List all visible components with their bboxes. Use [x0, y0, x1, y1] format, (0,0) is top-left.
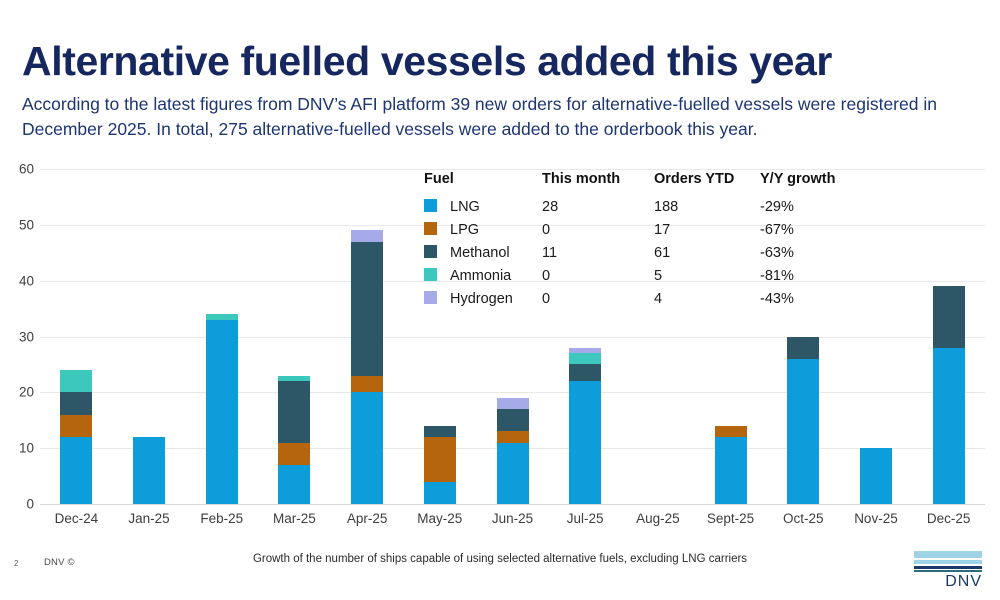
legend-fuel-cell: LNG: [424, 196, 542, 219]
bar-group[interactable]: [933, 286, 965, 504]
bar-segment-methanol[interactable]: [424, 426, 456, 437]
legend-fuel-cell: Methanol: [424, 242, 542, 265]
bar-segment-lpg[interactable]: [424, 437, 456, 482]
bar-segment-lng[interactable]: [60, 437, 92, 504]
legend-fuel-label: Methanol: [450, 245, 510, 261]
dnv-logo: DNV: [914, 551, 982, 591]
column-header-this-month: This month: [542, 171, 654, 196]
x-axis-baseline: [40, 504, 985, 505]
legend-yy-growth-cell: -81%: [760, 265, 850, 288]
chart-caption: Growth of the number of ships capable of…: [0, 553, 1000, 565]
bar-segment-lpg[interactable]: [278, 443, 310, 465]
x-axis-tick-label: Dec-25: [904, 511, 994, 526]
bar-group[interactable]: [787, 337, 819, 504]
bar-segment-lng[interactable]: [860, 448, 892, 504]
bar-group[interactable]: [206, 314, 238, 504]
bar-segment-hydrogen[interactable]: [351, 230, 383, 241]
table-body: LNG28188-29%LPG017-67%Methanol1161-63%Am…: [424, 196, 850, 311]
legend-fuel-label: LPG: [450, 222, 479, 238]
logo-wordmark: DNV: [914, 572, 982, 591]
bar-segment-lng[interactable]: [933, 348, 965, 504]
bar-group[interactable]: [860, 448, 892, 504]
legend-swatch-methanol-icon: [424, 245, 437, 258]
legend-swatch-lpg-icon: [424, 222, 437, 235]
legend-this-month-cell: 0: [542, 265, 654, 288]
page-subtitle: According to the latest figures from DNV…: [22, 92, 972, 142]
legend-orders-ytd-cell: 17: [654, 219, 760, 242]
page-title: Alternative fuelled vessels added this y…: [22, 40, 962, 83]
legend-fuel-label: Ammonia: [450, 268, 511, 284]
legend-this-month-cell: 0: [542, 219, 654, 242]
legend-fuel-cell: Ammonia: [424, 265, 542, 288]
y-axis-tick-label: 50: [2, 217, 34, 232]
legend-fuel-label: LNG: [450, 199, 480, 215]
y-axis-tick-label: 20: [2, 385, 34, 400]
y-axis-tick-label: 0: [2, 497, 34, 512]
bar-segment-lng[interactable]: [569, 381, 601, 504]
bar-segment-methanol[interactable]: [569, 364, 601, 381]
bar-group[interactable]: [569, 348, 601, 504]
legend-swatch-hydrogen-icon: [424, 291, 437, 304]
legend-row: Methanol1161-63%: [424, 242, 850, 265]
y-axis-tick-label: 40: [2, 273, 34, 288]
legend-orders-ytd-cell: 61: [654, 242, 760, 265]
bar-segment-lpg[interactable]: [497, 431, 529, 442]
bar-segment-hydrogen[interactable]: [497, 398, 529, 409]
legend-row: LNG28188-29%: [424, 196, 850, 219]
legend-this-month-cell: 11: [542, 242, 654, 265]
bar-segment-methanol[interactable]: [60, 392, 92, 414]
legend-yy-growth-cell: -63%: [760, 242, 850, 265]
footer-divider: [0, 583, 1000, 584]
legend-orders-ytd-cell: 5: [654, 265, 760, 288]
legend-yy-growth-cell: -43%: [760, 288, 850, 311]
bar-segment-lng[interactable]: [351, 392, 383, 504]
legend-fuel-label: Hydrogen: [450, 291, 513, 307]
bar-segment-lpg[interactable]: [60, 415, 92, 437]
bar-group[interactable]: [497, 398, 529, 504]
bar-group[interactable]: [60, 370, 92, 504]
legend-fuel-cell: Hydrogen: [424, 288, 542, 311]
bar-group[interactable]: [351, 230, 383, 504]
bar-segment-methanol[interactable]: [278, 381, 310, 442]
table-header-row: Fuel This month Orders YTD Y/Y growth: [424, 171, 850, 196]
bar-segment-lpg[interactable]: [715, 426, 747, 437]
bar-segment-lng[interactable]: [278, 465, 310, 504]
bar-segment-lng[interactable]: [206, 320, 238, 504]
bar-segment-lng[interactable]: [133, 437, 165, 504]
column-header-fuel: Fuel: [424, 171, 542, 196]
logo-bar-light-1: [914, 551, 982, 558]
legend-swatch-ammonia-icon: [424, 268, 437, 281]
column-header-yy-growth: Y/Y growth: [760, 171, 850, 196]
bar-group[interactable]: [424, 426, 456, 504]
fuel-summary-table: Fuel This month Orders YTD Y/Y growth LN…: [424, 171, 850, 311]
bar-segment-methanol[interactable]: [787, 337, 819, 359]
legend-row: Hydrogen04-43%: [424, 288, 850, 311]
slide-canvas: Alternative fuelled vessels added this y…: [0, 0, 1000, 600]
gridline: [40, 392, 985, 393]
bar-segment-lng[interactable]: [787, 359, 819, 504]
legend-yy-growth-cell: -29%: [760, 196, 850, 219]
bar-group[interactable]: [133, 437, 165, 504]
legend-swatch-lng-icon: [424, 199, 437, 212]
legend-row: Ammonia05-81%: [424, 265, 850, 288]
bar-segment-methanol[interactable]: [497, 409, 529, 431]
bar-segment-ammonia[interactable]: [569, 353, 601, 364]
legend-this-month-cell: 0: [542, 288, 654, 311]
bar-group[interactable]: [278, 376, 310, 504]
legend-orders-ytd-cell: 4: [654, 288, 760, 311]
gridline: [40, 169, 985, 170]
legend-this-month-cell: 28: [542, 196, 654, 219]
bar-segment-lpg[interactable]: [351, 376, 383, 393]
gridline: [40, 337, 985, 338]
y-axis-tick-label: 30: [2, 329, 34, 344]
bar-segment-ammonia[interactable]: [60, 370, 92, 392]
bar-group[interactable]: [715, 426, 747, 504]
legend-yy-growth-cell: -67%: [760, 219, 850, 242]
column-header-orders-ytd: Orders YTD: [654, 171, 760, 196]
bar-segment-lng[interactable]: [497, 443, 529, 504]
bar-segment-methanol[interactable]: [351, 242, 383, 376]
y-axis-tick-label: 10: [2, 441, 34, 456]
y-axis-tick-label: 60: [2, 162, 34, 177]
legend-table: Fuel This month Orders YTD Y/Y growth LN…: [424, 171, 850, 311]
legend-row: LPG017-67%: [424, 219, 850, 242]
bar-segment-methanol[interactable]: [933, 286, 965, 347]
bar-segment-lng[interactable]: [715, 437, 747, 504]
legend-fuel-cell: LPG: [424, 219, 542, 242]
bar-segment-lng[interactable]: [424, 482, 456, 504]
legend-orders-ytd-cell: 188: [654, 196, 760, 219]
